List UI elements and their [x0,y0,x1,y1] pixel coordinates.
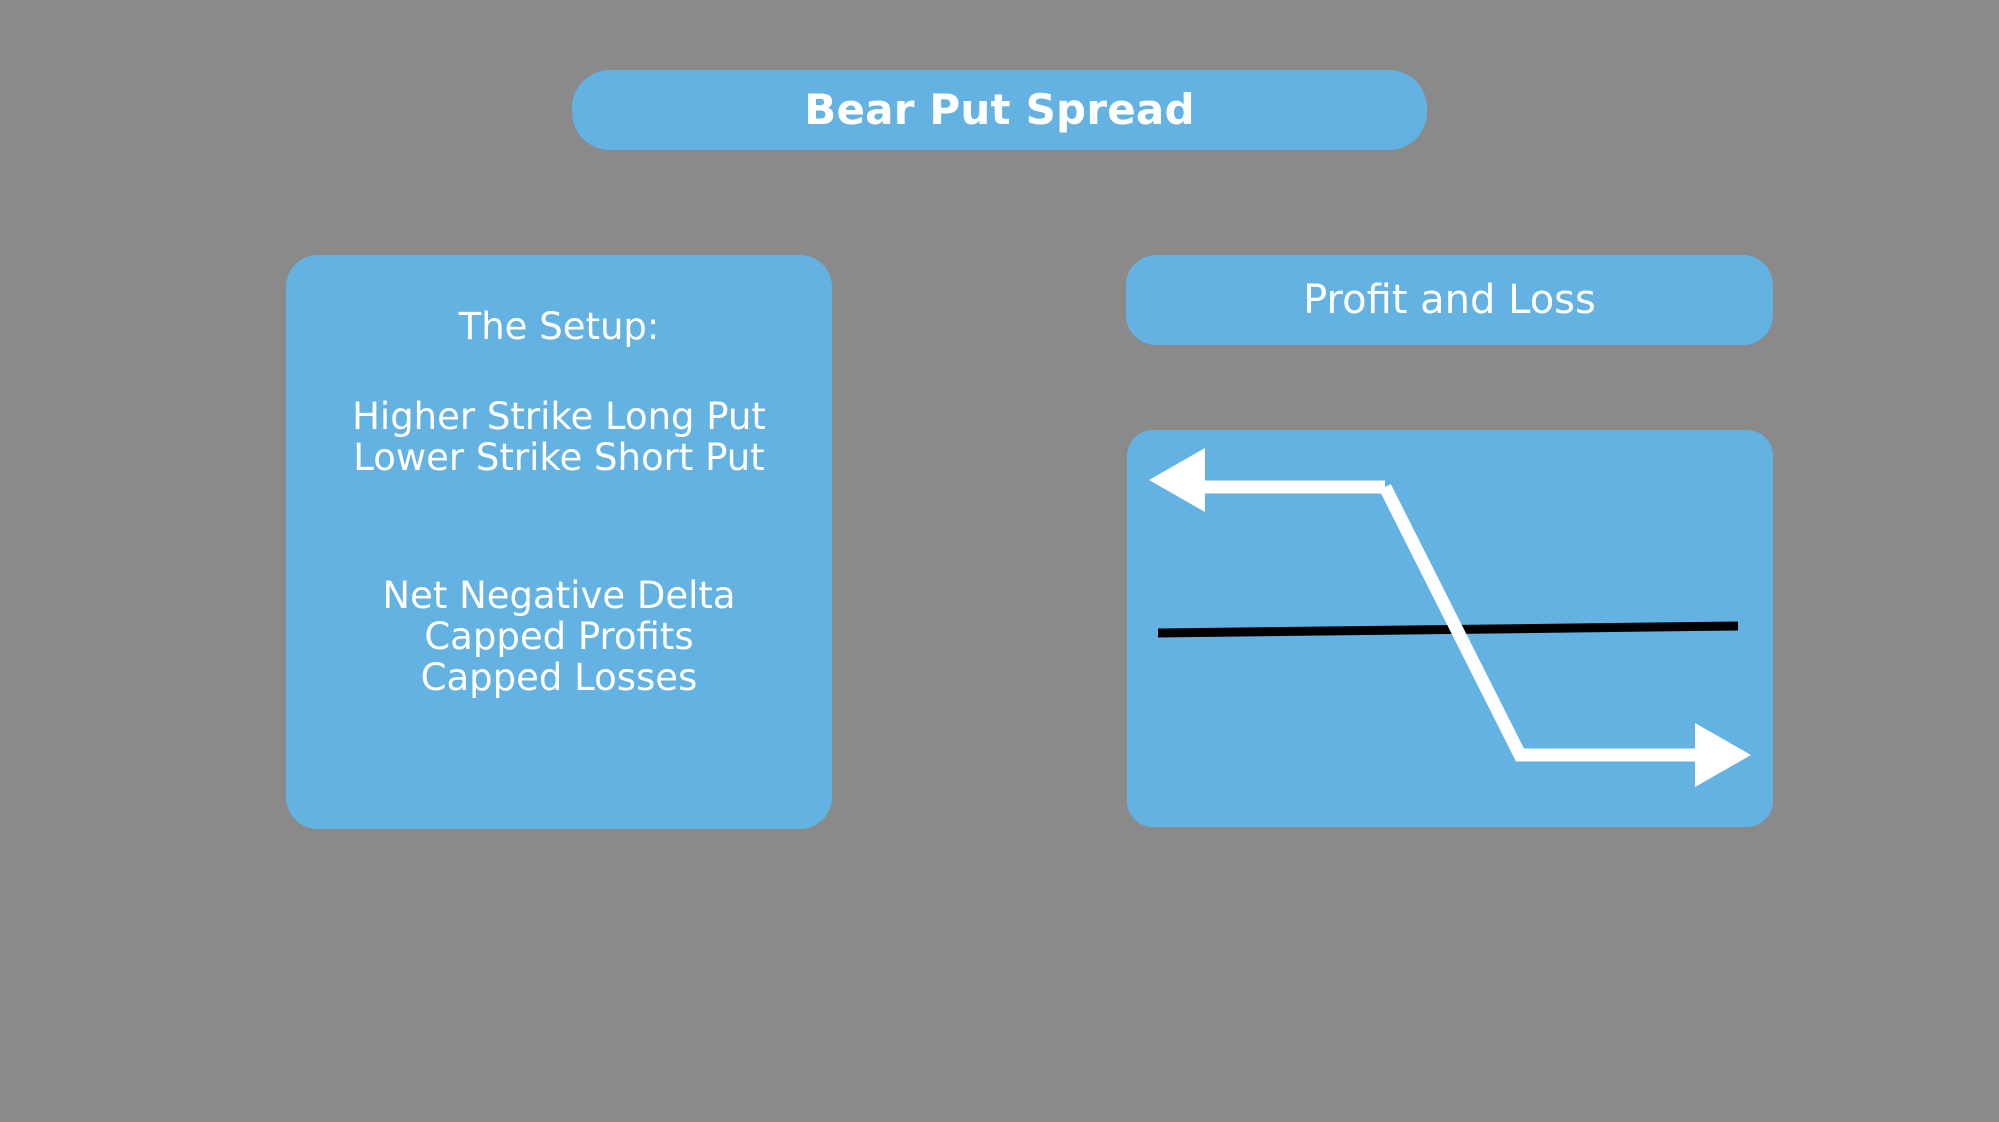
setup-characteristic-delta: Net Negative Delta [382,575,735,616]
pnl-chart-card [1127,430,1773,827]
left-arrow-icon [1149,448,1205,512]
right-arrow-icon [1695,723,1751,787]
zero-axis-line [1158,626,1738,633]
pnl-header-bar: Profit and Loss [1126,255,1773,345]
slide-canvas: Bear Put Spread The Setup: Higher Strike… [0,0,1999,1122]
setup-legs-group: Higher Strike Long Put Lower Strike Shor… [352,396,766,479]
page-title: Bear Put Spread [804,89,1194,131]
payoff-line [1385,487,1739,755]
slide-title-pill: Bear Put Spread [572,70,1427,150]
setup-characteristic-profits: Capped Profits [382,616,735,657]
setup-characteristics-group: Net Negative Delta Capped Profits Capped… [382,575,735,699]
pnl-header-label: Profit and Loss [1303,280,1596,320]
setup-heading: The Setup: [459,307,660,348]
setup-panel: The Setup: Higher Strike Long Put Lower … [286,255,832,829]
setup-leg-long-put: Higher Strike Long Put [352,396,766,437]
payoff-diagram [1127,430,1773,827]
setup-characteristic-losses: Capped Losses [382,657,735,698]
setup-leg-short-put: Lower Strike Short Put [352,437,766,478]
